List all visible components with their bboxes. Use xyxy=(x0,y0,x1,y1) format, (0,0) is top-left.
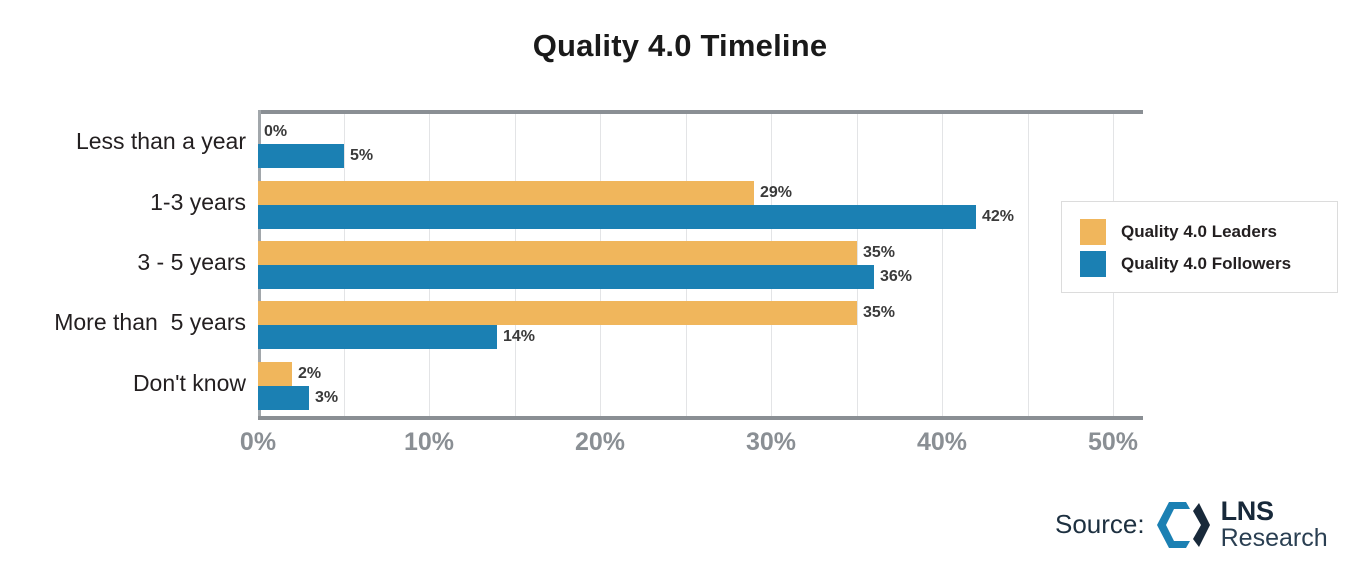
x-axis-tick-label: 10% xyxy=(404,428,454,457)
bar-value-label: 5% xyxy=(344,144,373,168)
source-label: Source: xyxy=(1055,509,1145,540)
legend-label-followers: Quality 4.0 Followers xyxy=(1121,254,1291,274)
x-axis-labels: 0%10%20%30%40%50% xyxy=(258,428,1143,468)
legend: Quality 4.0 Leaders Quality 4.0 Follower… xyxy=(1061,201,1338,293)
bar-row: 14% xyxy=(258,325,1143,349)
bar-value-label: 2% xyxy=(292,362,321,386)
bar-followers[interactable] xyxy=(258,265,874,289)
legend-item-leaders[interactable]: Quality 4.0 Leaders xyxy=(1080,216,1337,248)
bar-row: 35% xyxy=(258,301,1143,325)
source-attribution: Source: LNS Research xyxy=(1055,498,1328,551)
bar-leaders[interactable] xyxy=(258,241,857,265)
bar-row: 36% xyxy=(258,265,1143,289)
bar-row: 35% xyxy=(258,241,1143,265)
y-axis-labels: Less than a year1-3 years3 - 5 yearsMore… xyxy=(0,114,246,416)
lns-logo-primary-text: LNS xyxy=(1221,498,1328,525)
legend-label-leaders: Quality 4.0 Leaders xyxy=(1121,222,1277,242)
x-axis-line xyxy=(258,416,1143,420)
bar-row: 0% xyxy=(258,120,1143,144)
y-axis-label: More than 5 years xyxy=(0,309,246,336)
bar-followers[interactable] xyxy=(258,386,309,410)
x-axis-tick-label: 20% xyxy=(575,428,625,457)
x-axis-tick-label: 50% xyxy=(1088,428,1138,457)
bar-value-label: 29% xyxy=(754,181,792,205)
bar-leaders[interactable] xyxy=(258,181,754,205)
bar-row: 29% xyxy=(258,181,1143,205)
legend-item-followers[interactable]: Quality 4.0 Followers xyxy=(1080,248,1337,280)
bar-value-label: 0% xyxy=(258,120,287,144)
x-axis-tick-label: 40% xyxy=(917,428,967,457)
y-axis-label: Less than a year xyxy=(0,128,246,155)
bar-row: 3% xyxy=(258,386,1143,410)
bar-followers[interactable] xyxy=(258,325,497,349)
bar-row: 2% xyxy=(258,362,1143,386)
lns-wordmark: LNS Research xyxy=(1221,498,1328,551)
x-axis-tick-label: 30% xyxy=(746,428,796,457)
bar-row: 5% xyxy=(258,144,1143,168)
legend-swatch-leaders-icon xyxy=(1080,219,1106,245)
y-axis-label: Don't know xyxy=(0,370,246,397)
x-axis-tick-label: 0% xyxy=(240,428,276,457)
bar-followers[interactable] xyxy=(258,144,344,168)
bar-value-label: 42% xyxy=(976,205,1014,229)
y-axis-label: 1-3 years xyxy=(0,189,246,216)
legend-swatch-followers-icon xyxy=(1080,251,1106,277)
bar-followers[interactable] xyxy=(258,205,976,229)
y-axis-label: 3 - 5 years xyxy=(0,249,246,276)
bar-value-label: 3% xyxy=(309,386,338,410)
bar-leaders[interactable] xyxy=(258,362,292,386)
page-title: Quality 4.0 Timeline xyxy=(0,28,1360,64)
bar-value-label: 14% xyxy=(497,325,535,349)
lns-hexagon-bracket-logo-icon xyxy=(1155,499,1211,551)
lns-logo-secondary-text: Research xyxy=(1221,526,1328,551)
bar-row: 42% xyxy=(258,205,1143,229)
bar-value-label: 36% xyxy=(874,265,912,289)
bar-value-label: 35% xyxy=(857,241,895,265)
bar-leaders[interactable] xyxy=(258,301,857,325)
bars-layer: 0%5%29%42%35%36%35%14%2%3% xyxy=(258,114,1143,416)
bar-value-label: 35% xyxy=(857,301,895,325)
